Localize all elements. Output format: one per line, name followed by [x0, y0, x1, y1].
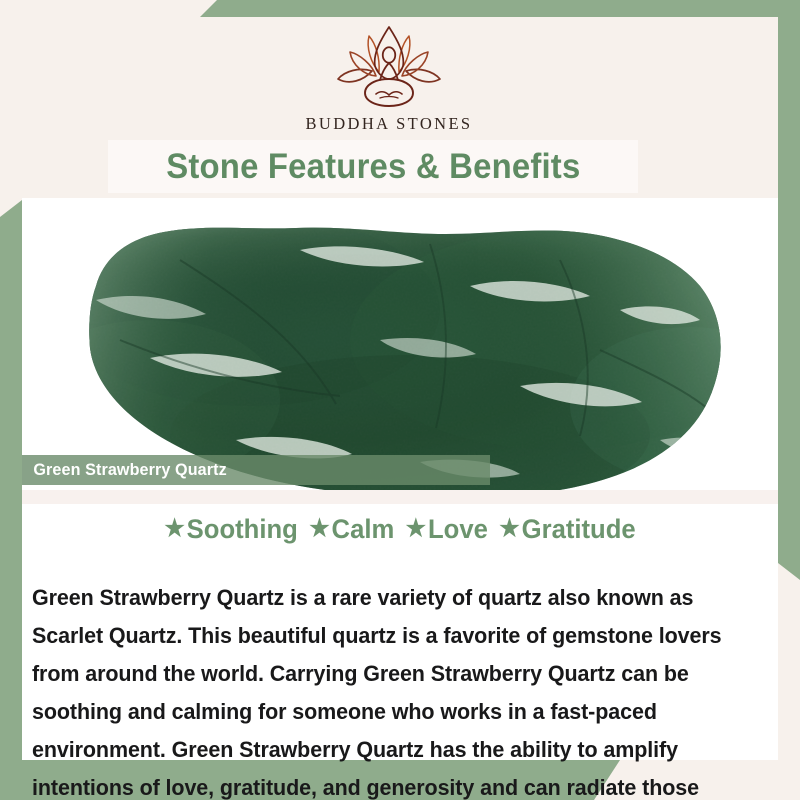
- lotus-meditation-icon: [330, 23, 448, 111]
- brand-wordmark: BUDDHA STONES: [0, 114, 778, 134]
- keyword-gratitude: Gratitude: [522, 514, 636, 544]
- star-icon-4: ★: [499, 515, 519, 542]
- keyword-soothing: Soothing: [187, 514, 298, 544]
- decor-right-strip: [778, 0, 800, 580]
- page-title: Stone Features & Benefits: [166, 147, 580, 187]
- brand-logo-block: BUDDHA STONES: [0, 23, 778, 134]
- stone-photo-frame: [22, 198, 778, 498]
- keyword-list: ★Soothing★Calm★Love★Gratitude: [41, 514, 759, 545]
- body-panel-tint: [22, 490, 778, 504]
- description-paragraph: Green Strawberry Quartz is a rare variet…: [32, 579, 746, 800]
- keyword-love: Love: [428, 514, 488, 544]
- header-section: BUDDHA STONES Stone Features & Benefits: [0, 17, 778, 198]
- poster-root: BUDDHA STONES Stone Features & Benefits: [0, 0, 800, 800]
- stone-photo: [22, 198, 778, 498]
- title-banner: Stone Features & Benefits: [108, 140, 638, 193]
- body-panel: ★Soothing★Calm★Love★Gratitude Green Stra…: [22, 490, 778, 760]
- keyword-calm: Calm: [332, 514, 395, 544]
- photo-caption: Green Strawberry Quartz: [22, 455, 490, 485]
- decor-left-strip: [0, 200, 22, 800]
- star-icon-1: ★: [164, 515, 184, 542]
- star-icon-2: ★: [309, 515, 329, 542]
- star-icon-3: ★: [406, 515, 426, 542]
- decor-top-band: [200, 0, 800, 17]
- photo-caption-text: Green Strawberry Quartz: [22, 460, 227, 480]
